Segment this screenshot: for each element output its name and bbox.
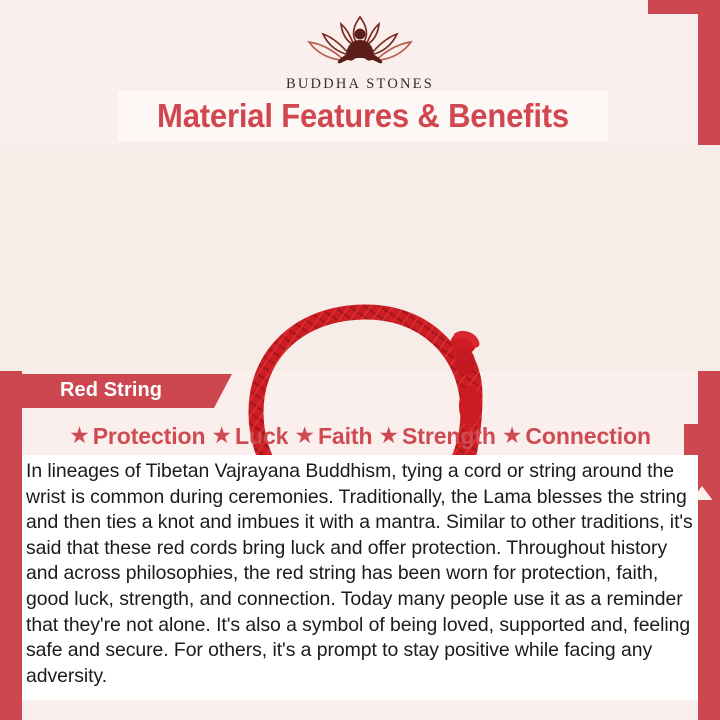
benefits-row: ★ Protection ★ Luck ★ Faith ★ Strength ★…	[22, 416, 698, 456]
product-photo-area	[0, 145, 720, 371]
benefit-label: Strength	[402, 423, 496, 450]
product-tag-label: Red String	[60, 374, 162, 408]
benefit-item-faith: ★ Faith	[294, 423, 372, 450]
benefit-item-protection: ★ Protection	[69, 423, 205, 450]
frame-band-left	[0, 371, 22, 720]
benefit-label: Connection	[525, 423, 651, 450]
lotus-meditation-icon	[297, 12, 423, 74]
benefit-label: Luck	[235, 423, 288, 450]
page-title: Material Features & Benefits	[133, 91, 594, 141]
description-text: In lineages of Tibetan Vajrayana Buddhis…	[26, 459, 694, 689]
benefit-item-connection: ★ Connection	[502, 423, 651, 450]
brand-logo: BUDDHA STONES	[0, 12, 720, 93]
star-icon: ★	[69, 424, 90, 447]
benefit-label: Protection	[93, 423, 206, 450]
benefit-item-luck: ★ Luck	[211, 423, 288, 450]
star-icon: ★	[378, 424, 399, 447]
benefit-item-strength: ★ Strength	[378, 423, 495, 450]
infographic-page: BUDDHA STONES Material Features & Benefi…	[0, 0, 720, 720]
frame-band-bottom-right	[698, 500, 720, 720]
star-icon: ★	[502, 424, 523, 447]
benefit-label: Faith	[318, 423, 372, 450]
star-icon: ★	[211, 424, 232, 447]
star-icon: ★	[294, 424, 315, 447]
